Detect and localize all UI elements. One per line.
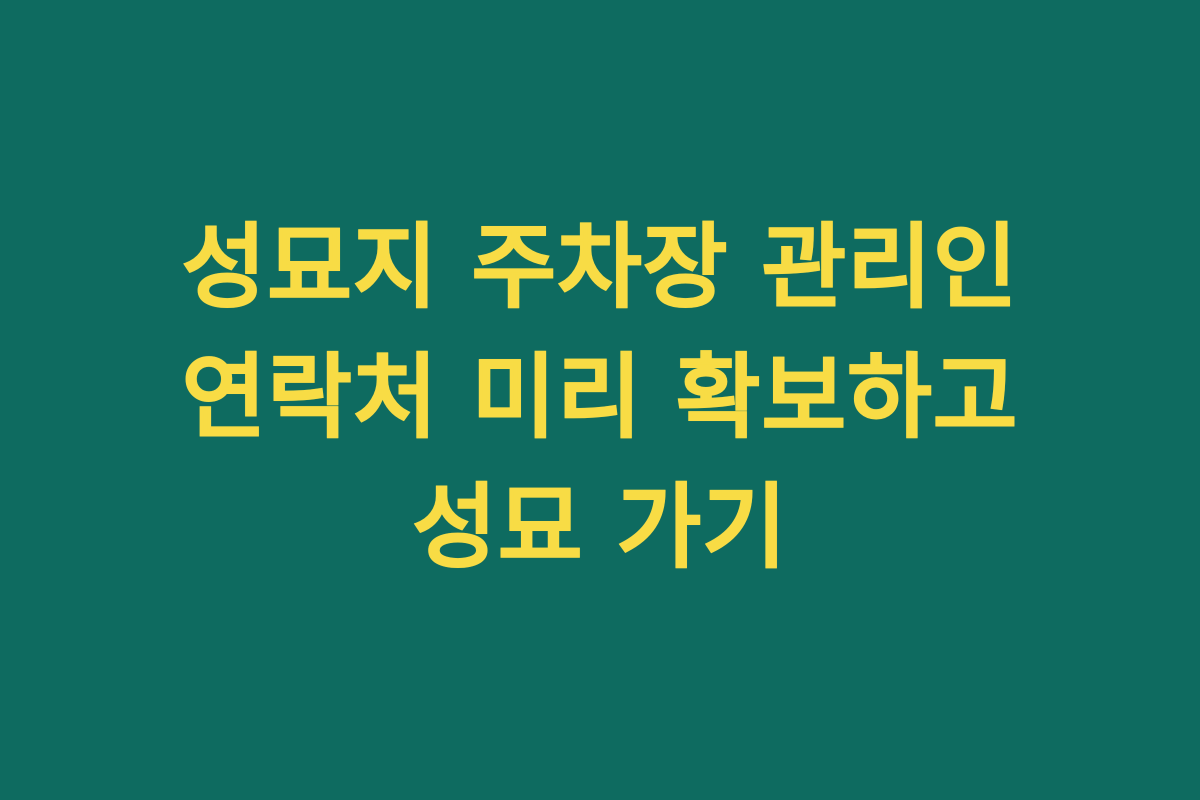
page-title: 성묘지 주차장 관리인 연락처 미리 확보하고 성묘 가기 bbox=[90, 203, 1110, 593]
text-card: 성묘지 주차장 관리인 연락처 미리 확보하고 성묘 가기 bbox=[0, 0, 1200, 800]
